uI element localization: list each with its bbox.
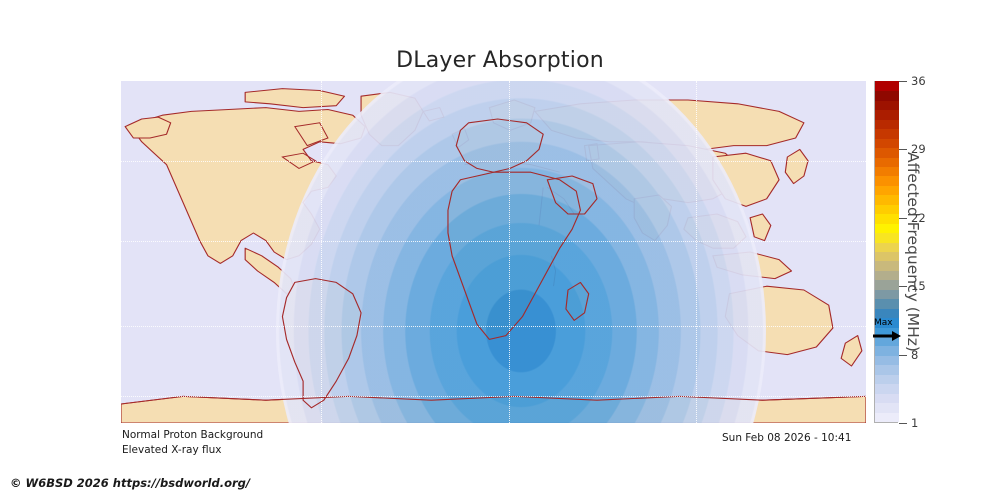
colorbar-segment [875,289,899,299]
note-proton-background: Normal Proton Background [122,429,263,441]
colorbar-segment [875,355,899,365]
colorbar-segment [875,91,899,101]
colorbar-gradient [874,81,898,423]
copyright-label: © W6BSD 2026 https://bsdworld.org/ [10,476,250,490]
colorbar-segment [875,412,899,422]
colorbar-segment [875,365,899,375]
colorbar-segment [875,346,899,356]
colorbar-segment [875,233,899,243]
dlayer-absorption-overlay [121,81,866,423]
world-map-panel[interactable] [121,81,866,423]
colorbar-segment [875,195,899,205]
colorbar-segment [875,223,899,233]
colorbar-segment [875,138,899,148]
colorbar-segment [875,100,899,110]
colorbar-segment [875,157,899,167]
absorption-region [276,81,766,423]
figure-root: DLayer Absorption [0,0,1000,500]
colorbar-segment [875,110,899,120]
colorbar-segment [875,214,899,224]
note-xray-flux: Elevated X-ray flux [122,444,221,456]
colorbar-segment [875,393,899,403]
colorbar-segment [875,308,899,318]
colorbar-segment [875,242,899,252]
colorbar-segment [875,261,899,271]
timestamp-label: Sun Feb 08 2026 - 10:41 [722,432,851,444]
colorbar-segment [875,129,899,139]
max-annotation: Max [872,318,912,346]
colorbar-segment [875,185,899,195]
colorbar-tick [899,423,907,424]
colorbar-segment [875,119,899,129]
colorbar-segment [875,374,899,384]
colorbar-segment [875,251,899,261]
colorbar[interactable] [874,81,898,423]
max-annotation-label: Max [874,318,893,328]
colorbar-axis-label: Affected Frequency (MHz) [901,81,925,423]
max-arrow-icon [872,330,902,344]
colorbar-segment [875,204,899,214]
colorbar-segment [875,384,899,394]
colorbar-segment [875,299,899,309]
colorbar-segment [875,166,899,176]
colorbar-segment [875,403,899,413]
colorbar-segment [875,176,899,186]
page-title: DLayer Absorption [0,48,1000,73]
colorbar-segment [875,270,899,280]
colorbar-segment [875,81,899,91]
colorbar-segment [875,280,899,290]
colorbar-segment [875,148,899,158]
